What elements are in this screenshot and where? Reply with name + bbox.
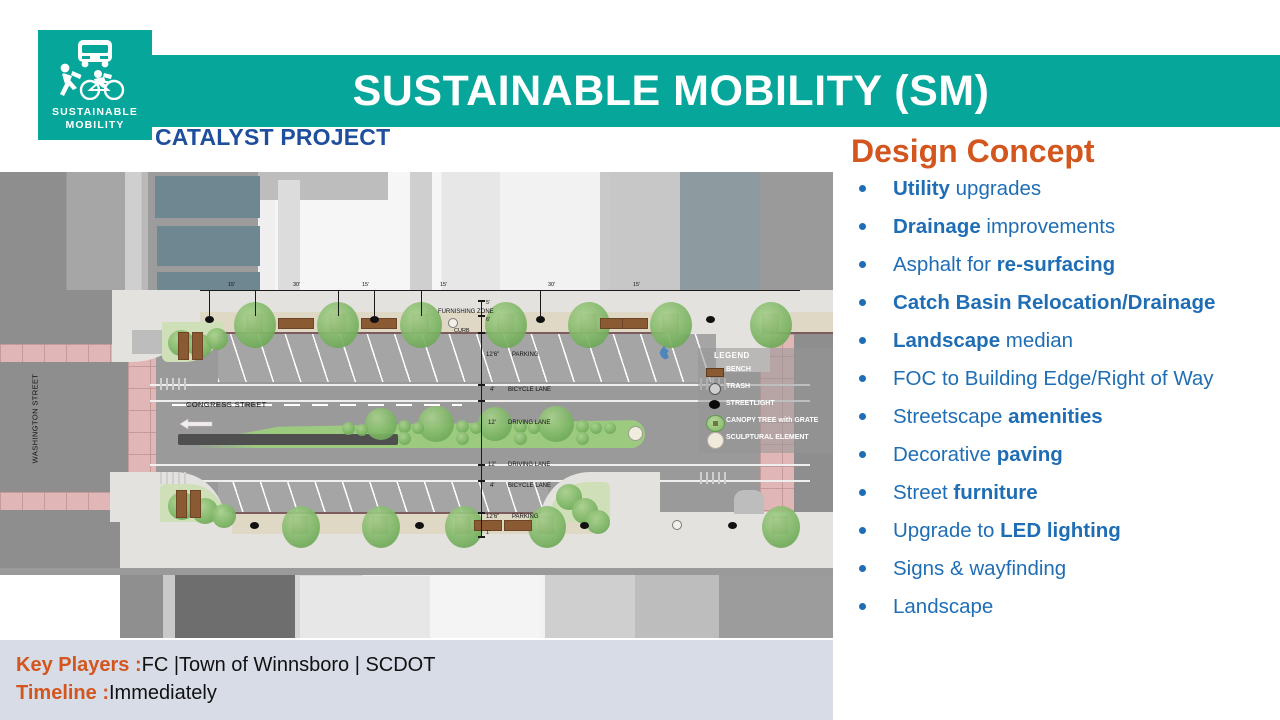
bullet-text-run: Decorative	[893, 443, 997, 466]
bullet-dot-icon	[859, 527, 866, 534]
street-tree	[528, 506, 566, 548]
bullet-text-run: Drainage	[893, 215, 981, 238]
design-concept-bullet: Landscape median	[845, 328, 1280, 353]
curb-label: CURB	[454, 328, 470, 334]
design-concept-bullet: Utility upgrades	[845, 176, 1280, 201]
logo-wordmark: SUSTAINABLE MOBILITY	[38, 106, 152, 132]
streetscape-site-plan: 15' 30' 15' 15' 30' 15' 5' 6' 1' FURNISH…	[0, 172, 833, 638]
bullet-text-run: Street	[893, 481, 953, 504]
bullet-text-run: Catch Basin Relocation/Drainage	[893, 291, 1215, 314]
trash-receptacle	[448, 318, 458, 328]
cross-section-dim-3: 12'	[488, 420, 496, 426]
bicycle-icon	[81, 70, 123, 99]
bullet-dot-icon	[859, 299, 866, 306]
median-tree	[418, 406, 454, 442]
bullet-text-run: improvements	[981, 215, 1115, 238]
crosswalk-hatch-left-lower	[160, 472, 186, 484]
dim-tick	[478, 315, 485, 317]
bullet-dot-icon	[859, 603, 866, 610]
washington-street-label: WASHINGTON STREET	[30, 374, 39, 464]
key-players-label: Key Players :	[16, 654, 142, 676]
bullet-dot-icon	[859, 375, 866, 382]
aerial-bottom-building-4	[545, 574, 635, 638]
logo-icon-group	[38, 38, 152, 100]
bullet-text-run: Signs & wayfinding	[893, 557, 1066, 580]
aerial-roof-d	[157, 226, 260, 266]
header-teal-bar: SUSTAINABLE MOBILITY (SM)	[152, 55, 1280, 127]
legend-label: STREETLIGHT	[726, 400, 775, 407]
median-shrub	[356, 424, 368, 436]
streetlight	[728, 522, 737, 529]
median-shrub	[514, 432, 527, 445]
legend-label: TRASH	[726, 383, 750, 390]
aerial-roof-f	[278, 180, 300, 298]
aerial-roof-h	[610, 172, 680, 298]
cross-section-label-4: DRIVING LANE	[508, 462, 550, 468]
congress-street-label: CONGRESS STREET	[186, 400, 267, 409]
bullet-dot-icon	[859, 261, 866, 268]
page-title: SUSTAINABLE MOBILITY (SM)	[152, 55, 1280, 127]
bench	[278, 318, 314, 329]
pedestrian-icon	[60, 64, 82, 96]
median-shrub	[590, 422, 602, 434]
sustainable-mobility-logo: SUSTAINABLE MOBILITY	[38, 30, 152, 140]
corner-ramp-upper-left	[132, 330, 162, 354]
bullet-dot-icon	[859, 489, 866, 496]
washington-street-block-upper	[0, 290, 120, 350]
crosswalk-hatch-left-upper	[160, 378, 186, 390]
key-players-value: FC |Town of Winnsboro | SCDOT	[142, 654, 436, 676]
tree-leader	[421, 290, 422, 316]
median-shrub	[342, 422, 355, 435]
bullet-text-run: LED lighting	[1000, 519, 1121, 542]
design-concept-bullet: Upgrade to LED lighting	[845, 518, 1280, 543]
dim-tick	[478, 512, 485, 514]
median-shrub	[412, 422, 424, 434]
bench-vertical-upper	[178, 332, 189, 360]
design-concept-bullet: Streetscape amenities	[845, 404, 1280, 429]
cross-section-label-2: BICYCLE LANE	[508, 387, 551, 393]
legend-title: LEGEND	[714, 351, 750, 360]
cross-section-label-5: BICYCLE LANE	[508, 483, 551, 489]
design-concept-bullet: Street furniture	[845, 480, 1280, 505]
map-legend: LEGEND BENCH TRASH STREETLIGHT CANOPY TR…	[698, 348, 833, 453]
timeline-value: Immediately	[109, 682, 217, 704]
streetlight	[415, 522, 424, 529]
aerial-bottom-building-2	[300, 576, 430, 638]
streetlight-leader	[540, 290, 541, 318]
bullet-dot-icon	[859, 565, 866, 572]
median-tree	[365, 408, 397, 440]
design-concept-bullet: Signs & wayfinding	[845, 556, 1280, 581]
median-shrub	[456, 432, 469, 445]
legend-row-streetlight: STREETLIGHT	[702, 397, 833, 413]
bullet-text-run: Landscape	[893, 329, 1000, 352]
edge-dim-label: 6'	[486, 317, 490, 323]
bullet-text-run: median	[1000, 329, 1073, 352]
cross-section-label-6: PARKING	[512, 514, 539, 520]
design-concept-bullet-list: Utility upgradesDrainage improvementsAsp…	[845, 176, 1280, 619]
turn-arrow-icon	[178, 418, 214, 432]
logo-line-1: SUSTAINABLE	[38, 106, 152, 119]
bullet-dot-icon	[859, 451, 866, 458]
timeline-label: Timeline :	[16, 682, 109, 704]
legend-label: SCULPTURAL ELEMENT	[726, 434, 809, 441]
bus-icon	[78, 40, 112, 67]
bullet-dot-icon	[859, 185, 866, 192]
tree-leader	[338, 290, 339, 316]
corner-tree	[586, 510, 610, 534]
streetlight-leader	[374, 290, 375, 318]
bench-vertical	[176, 490, 187, 518]
street-tree	[282, 506, 320, 548]
bench-vertical	[190, 490, 201, 518]
legend-row-trash: TRASH	[702, 380, 833, 396]
top-dimension-label: 15'	[633, 282, 640, 288]
cross-section-dim-5: 4'	[490, 483, 494, 489]
header-subtitle: CATALYST PROJECT	[155, 124, 390, 151]
design-concept-title: Design Concept	[851, 132, 1280, 170]
bullet-text-run: paving	[997, 443, 1063, 466]
bullet-dot-icon	[859, 337, 866, 344]
design-concept-bullet: Catch Basin Relocation/Drainage	[845, 290, 1280, 315]
edge-dim-label: 1'	[486, 530, 490, 536]
washington-street-block-main	[0, 362, 128, 502]
design-concept-bullet: Landscape	[845, 594, 1280, 619]
trash-receptacle	[672, 520, 682, 530]
existing-median-bar	[178, 434, 398, 445]
dim-tick	[478, 384, 485, 386]
sculptural-element-median	[628, 426, 643, 441]
streetlight	[706, 316, 715, 323]
top-dimension-label: 30'	[548, 282, 555, 288]
bench-vertical-upper	[192, 332, 203, 360]
bullet-text-run: furniture	[953, 481, 1037, 504]
aerial-bottom-building-3	[430, 570, 540, 638]
streetlight-leader	[209, 290, 210, 318]
bullet-text-run: Utility	[893, 177, 950, 200]
design-concept-bullet: FOC to Building Edge/Right of Way	[845, 366, 1280, 391]
streetlight	[580, 522, 589, 529]
legend-row-canopy-tree: CANOPY TREE with GRATE	[702, 414, 833, 430]
sculptural-element-icon	[707, 432, 724, 449]
bullet-dot-icon	[859, 413, 866, 420]
street-tree	[362, 506, 400, 548]
logo-line-2: MOBILITY	[38, 119, 152, 132]
cross-section-label-3: DRIVING LANE	[508, 420, 550, 426]
key-players-line: Key Players :FC |Town of Winnsboro | SCD…	[16, 654, 435, 677]
cross-section-dim-4: 12'	[488, 462, 496, 468]
dim-tick	[478, 480, 485, 482]
key-players-footer: Key Players :FC |Town of Winnsboro | SCD…	[0, 640, 833, 720]
street-tree	[750, 302, 792, 348]
edge-dim-label: 5'	[486, 300, 490, 306]
legend-label: BENCH	[726, 366, 751, 373]
cross-section-dim-6: 12'6"	[486, 514, 499, 520]
crosswalk-hatch-right-lower	[700, 472, 726, 484]
bullet-text-run: amenities	[1008, 405, 1103, 428]
bench-icon	[706, 368, 724, 377]
legend-label: CANOPY TREE with GRATE	[726, 417, 818, 424]
dim-tick	[478, 536, 485, 538]
bullet-dot-icon	[859, 223, 866, 230]
cross-section-dim-2: 4'	[490, 387, 494, 393]
bullet-text-run: FOC to Building Edge/Right of Way	[893, 367, 1214, 390]
street-tree	[762, 506, 800, 548]
corner-tree-upper	[206, 328, 228, 350]
aerial-roof-i	[680, 172, 760, 298]
tree-leader	[255, 290, 256, 316]
upper-stall-striping	[218, 334, 716, 382]
aerial-bottom-building-1	[175, 568, 295, 638]
bench	[361, 318, 397, 329]
bullet-text-run: Streetscape	[893, 405, 1008, 428]
canopy-tree-icon	[706, 415, 725, 432]
aerial-roof-g	[410, 172, 432, 298]
furnishing-zone-text: FURNISHING ZONE	[438, 309, 494, 315]
furnishing-zone-label: FURNISHING ZONE	[438, 308, 476, 316]
top-dimension-label: 15'	[228, 282, 235, 288]
design-concept-panel: Design Concept Utility upgradesDrainage …	[845, 132, 1280, 712]
top-dimension-line	[200, 290, 800, 291]
top-dimension-label: 30'	[293, 282, 300, 288]
streetlight-icon	[709, 400, 720, 409]
bullet-text-run: Upgrade to	[893, 519, 1000, 542]
trash-icon	[709, 383, 721, 395]
timeline-line: Timeline :Immediately	[16, 682, 217, 705]
bullet-text-run: Asphalt for	[893, 253, 997, 276]
design-concept-bullet: Drainage improvements	[845, 214, 1280, 239]
washington-street-block-lower	[0, 510, 120, 568]
aerial-roof-c	[155, 176, 260, 218]
streetlight	[250, 522, 259, 529]
dim-tick	[478, 332, 485, 334]
bullet-text-run: upgrades	[950, 177, 1041, 200]
legend-row-bench: BENCH	[702, 363, 833, 379]
bullet-text-run: Landscape	[893, 595, 993, 618]
dim-tick	[478, 400, 485, 402]
corner-tree	[212, 504, 236, 528]
median-shrub	[398, 432, 411, 445]
cross-section-dim-1: 12'6"	[486, 352, 499, 358]
street-tree	[650, 302, 692, 348]
design-concept-bullet: Decorative paving	[845, 442, 1280, 467]
dim-tick	[478, 300, 485, 302]
dim-tick	[478, 464, 485, 466]
bench	[504, 520, 532, 531]
bench	[622, 318, 648, 329]
bullet-text-run: re-surfacing	[997, 253, 1115, 276]
top-dimension-label: 15'	[440, 282, 447, 288]
corner-ramp-lower-right	[734, 490, 764, 514]
median-shrub	[604, 422, 616, 434]
top-dimension-label: 15'	[362, 282, 369, 288]
legend-row-sculpture: SCULPTURAL ELEMENT	[702, 431, 833, 447]
cross-section-dimension-line	[481, 300, 482, 538]
median-shrub	[576, 432, 589, 445]
design-concept-bullet: Asphalt for re-surfacing	[845, 252, 1280, 277]
cross-section-label-1: PARKING	[512, 352, 539, 358]
